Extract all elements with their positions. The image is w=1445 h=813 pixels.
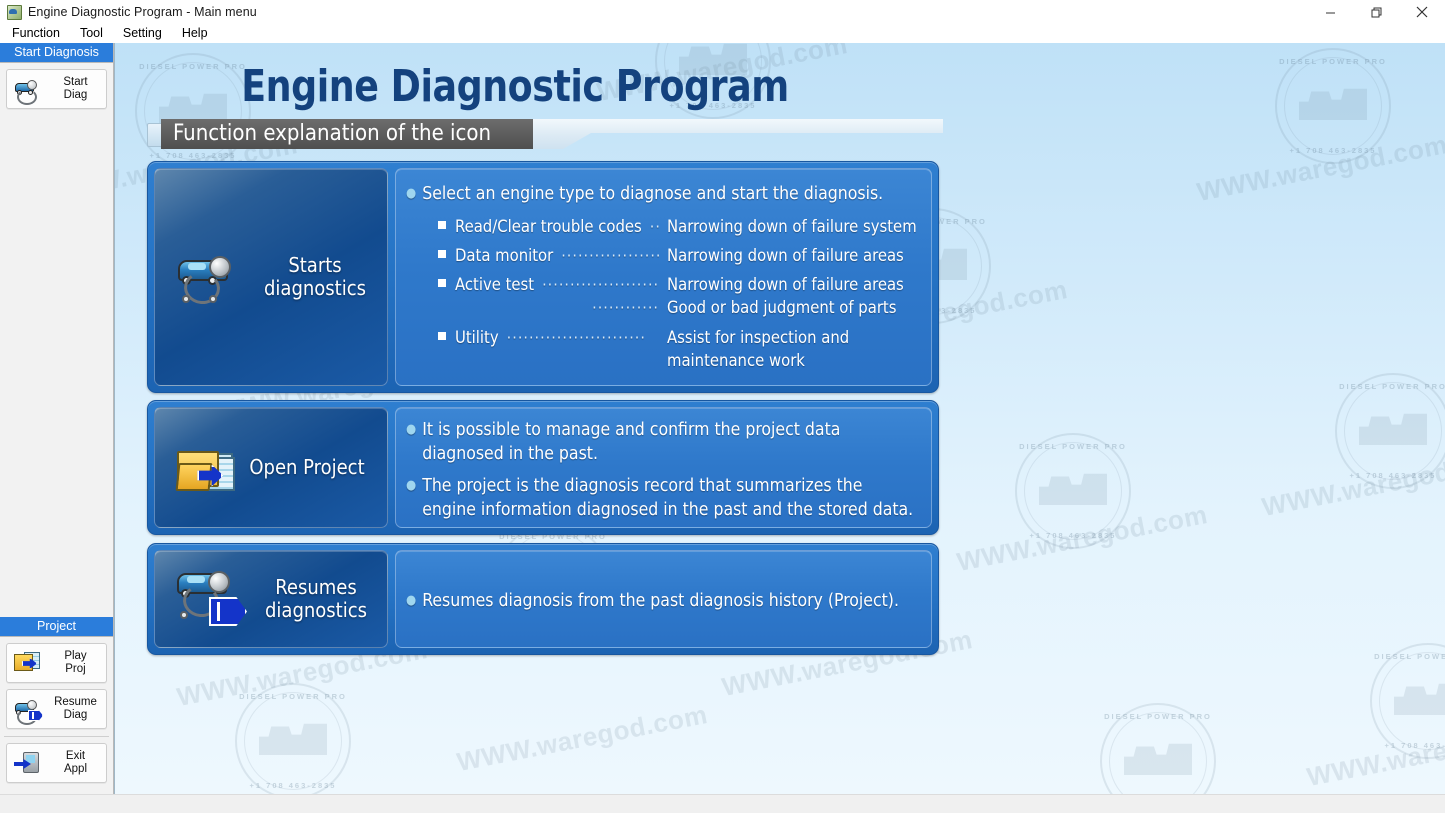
panel-caption: Open Project [249,456,364,479]
feature-row: Utility ························· Assist… [438,326,917,349]
panel-start-diagnostics[interactable]: Starts diagnostics ● Select an engine ty… [147,161,939,393]
sidebar-item-label: Start Diag [49,76,106,102]
status-bar [0,794,1445,813]
watermark-site: WWW.waregod.com [1194,129,1445,208]
panel-bullet: ● The project is the diagnosis record th… [406,474,917,522]
sidebar-item-start-diag[interactable]: Start Diag [6,69,107,109]
sidebar-item-label: Exit Appl [49,750,106,776]
watermark-stamp: DIESEL POWER PRO+1 708 463-2835 [1015,433,1131,549]
feature-leader: ························· [507,326,659,349]
sidebar-item-label-line1: Play [49,650,102,663]
feature-row: maintenance work [438,349,917,372]
sidebar-item-play-proj[interactable]: Play Proj [6,643,107,683]
watermark-stamp: DIESEL POWER PRO+1 708 463-2835 [1370,643,1445,759]
feature-leader: ····················· [542,273,659,296]
panel-icon-box[interactable]: Open Project [154,407,388,528]
sidebar-item-label-line2: Appl [49,763,102,776]
feature-leader: ··· [650,215,659,238]
watermark-site: WWW.waregod.com [1304,714,1445,793]
square-bullet-icon [438,250,446,258]
car-stethoscope-icon [7,72,49,106]
left-sidebar: Start Diagnosis Start Diag Project [0,43,114,795]
sidebar-group-project: Project Play Proj [0,617,113,795]
panel-open-project[interactable]: Open Project ● It is possible to manage … [147,400,939,535]
feature-desc: maintenance work [667,349,917,372]
engine-diagnostic-app-icon [6,4,22,20]
watermark-stamp: DIESEL POWER PRO+1 708 463-2835 [1275,48,1391,164]
banner: Function explanation of the icon [147,119,942,149]
car-stethoscope-resume-icon [175,567,255,631]
panel-caption-line1: Resumes [265,576,367,599]
square-bullet-icon [438,221,446,229]
feature-name: Read/Clear trouble codes [455,215,642,238]
menu-bar: Function Tool Setting Help [0,24,1445,43]
car-stethoscope-resume-icon [7,692,49,726]
watermark-site: WWW.waregod.com [454,699,710,778]
panel-bullet: ● Resumes diagnosis from the past diagno… [406,589,899,613]
sidebar-item-label-line2: Diag [49,709,102,722]
bullet-dot-icon: ● [406,474,416,498]
sidebar-item-label: Resume Diag [49,696,106,722]
exit-door-arrow-icon [7,746,49,780]
panel-bullet-text: Resumes diagnosis from the past diagnosi… [422,589,899,613]
maximize-restore-button[interactable] [1353,0,1399,24]
feature-leader: ·················· [561,244,659,267]
square-bullet-icon [438,279,446,287]
sidebar-item-resume-diag[interactable]: Resume Diag [6,689,107,729]
folder-open-project-icon [177,443,239,493]
feature-row: Active test ····················· Narrow… [438,273,917,296]
sidebar-group-header-project: Project [0,617,113,637]
title-bar: Engine Diagnostic Program - Main menu [0,0,1445,25]
sidebar-divider [4,736,109,737]
watermark-stamp: DIESEL POWER PRO+1 708 463-2835 [235,683,351,795]
watermark-site: WWW.waregod.com [954,499,1210,578]
panel-caption-line2: diagnostics [264,277,366,300]
panel-lead-line: ● Select an engine type to diagnose and … [406,182,917,206]
panel-caption-line2: diagnostics [265,599,367,622]
feature-desc: Narrowing down of failure areas [667,244,917,267]
menu-item-setting[interactable]: Setting [114,24,171,43]
feature-row: ············ Good or bad judgment of par… [438,296,917,319]
panel-text-box: ● Select an engine type to diagnose and … [395,168,932,386]
sidebar-group-header-start-diagnosis: Start Diagnosis [0,43,113,63]
panel-icon-box[interactable]: Starts diagnostics [154,168,388,386]
feature-leader: ············ [463,296,659,319]
banner-tail [533,119,943,150]
bullet-dot-icon: ● [406,182,416,206]
panel-caption-line1: Open Project [249,456,364,479]
panel-bullet: ● It is possible to manage and confirm t… [406,418,917,466]
menu-item-help[interactable]: Help [173,24,217,43]
feature-name: Data monitor [455,244,553,267]
feature-row: Data monitor ·················· Narrowin… [438,244,917,267]
watermark-site: WWW.waregod.com [1259,444,1445,523]
car-stethoscope-icon [176,246,254,308]
feature-desc: Narrowing down of failure system [667,215,917,238]
sidebar-item-label-line2: Proj [49,663,102,676]
panel-caption-line1: Starts [264,254,366,277]
sidebar-item-label-line2: Diag [49,89,102,102]
panel-resume-diagnostics[interactable]: Resumes diagnostics ● Resumes diagnosis … [147,543,939,655]
bullet-dot-icon: ● [406,418,416,442]
sidebar-item-label: Play Proj [49,650,106,676]
watermark-stamp: DIESEL POWER PRO+1 708 463-2835 [1335,373,1445,489]
panel-bullet-text: The project is the diagnosis record that… [422,474,917,522]
close-button[interactable] [1399,0,1445,24]
panel-bullet-text: It is possible to manage and confirm the… [422,418,917,466]
panel-text-box: ● It is possible to manage and confirm t… [395,407,932,528]
bullet-dot-icon: ● [406,589,416,613]
banner-label: Function explanation of the icon [161,119,533,149]
square-bullet-spacer [438,302,446,310]
panel-caption: Resumes diagnostics [265,576,367,622]
square-bullet-icon [438,332,446,340]
feature-row: Read/Clear trouble codes ··· Narrowing d… [438,215,917,238]
feature-desc: Good or bad judgment of parts [667,296,917,319]
sidebar-item-label-line1: Exit [49,750,102,763]
window-title: Engine Diagnostic Program - Main menu [28,5,257,19]
feature-desc: Assist for inspection and [667,326,917,349]
panel-lead-text: Select an engine type to diagnose and st… [422,182,883,206]
menu-item-tool[interactable]: Tool [71,24,112,43]
watermark-stamp: DIESEL POWER PRO+1 708 463-2835 [1100,703,1216,795]
folder-play-icon [7,646,49,680]
page-title: Engine Diagnostic Program [147,61,883,112]
feature-desc: Narrowing down of failure areas [667,273,917,296]
square-bullet-spacer [438,355,446,363]
sidebar-item-label-line1: Resume [49,696,102,709]
menu-item-function[interactable]: Function [3,24,69,43]
panel-text-box: ● Resumes diagnosis from the past diagno… [395,550,932,648]
panel-caption: Starts diagnostics [264,254,366,300]
application-window: Engine Diagnostic Program - Main menu Fu… [0,0,1445,813]
sidebar-item-label-line1: Start [49,76,102,89]
minimize-button[interactable] [1307,0,1353,24]
feature-name: Active test [455,273,534,296]
panel-icon-box[interactable]: Resumes diagnostics [154,550,388,648]
window-controls [1307,0,1445,24]
feature-name: Utility [455,326,499,349]
sidebar-item-exit-appl[interactable]: Exit Appl [6,743,107,783]
main-content: DIESEL POWER PRO+1 708 463-2835 WWW.ware… [114,43,1445,795]
